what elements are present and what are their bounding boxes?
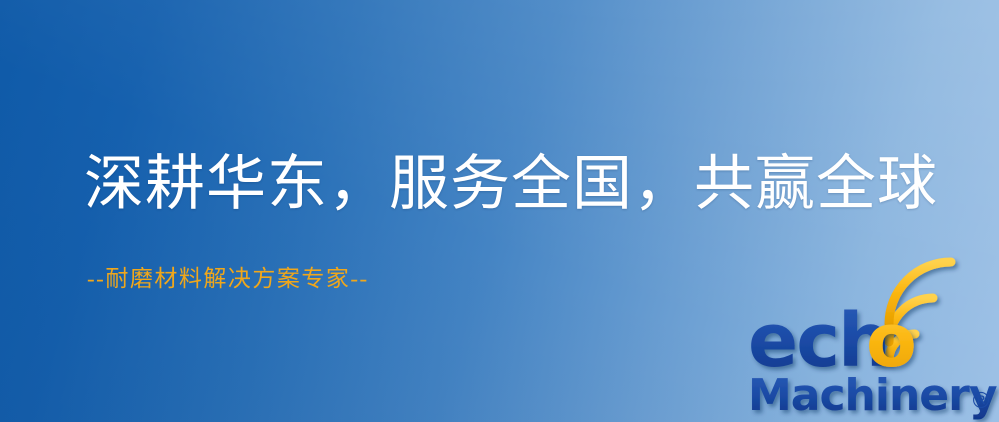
echo-machinery-logo[interactable]: ech o Machinery ® — [748, 296, 999, 422]
registered-trademark-icon: ® — [970, 389, 992, 414]
banner-headline: 深耕华东，服务全国，共赢全球 — [84, 152, 938, 217]
promo-banner: 深耕华东，服务全国，共赢全球 --耐磨材料解决方案专家-- — [0, 0, 999, 422]
logo-text-machinery: Machinery — [748, 370, 997, 421]
banner-subtitle: --耐磨材料解决方案专家-- — [87, 265, 369, 293]
